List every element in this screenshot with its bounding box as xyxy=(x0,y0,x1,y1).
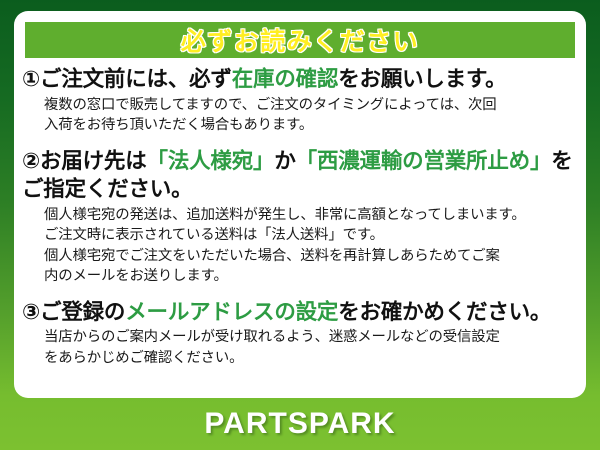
notice-item-1-body: 複数の窓口で販売してますので、ご注文のタイミングによっては、次回 入荷をお待ち頂… xyxy=(44,95,578,136)
notice-item-2-body-line-1: 個人様宅宛の発送は、追加送料が発生し、非常に高額となってしまいます。 xyxy=(44,205,578,225)
notice-item-1-number: ① xyxy=(22,67,40,91)
footer-brand-bar: PARTSPARK xyxy=(0,398,600,450)
notice-item-3-head-part-2: をお確かめください。 xyxy=(338,300,551,324)
notice-item-2-head-part-0: お届け先は xyxy=(40,149,147,173)
notice-item-2-body-line-3: 個人様宅宛でご注文をいただいた場合、送料を再計算しあらためてご案 xyxy=(44,246,578,266)
notice-item-2-heading: ②お届け先は「法人様宛」か「西濃運輸の営業所止め」をご指定ください。 xyxy=(22,148,578,204)
notice-item-3-body-line-1: 当店からのご案内メールが受け取れるよう、迷惑メールなどの受信設定 xyxy=(44,327,578,347)
notice-item-2-body-line-4: 内のメールをお送りします。 xyxy=(44,266,578,286)
notice-item-3: ③ご登録のメールアドレスの設定をお確かめください。 当店からのご案内メールが受け… xyxy=(22,299,578,369)
notice-item-2-number: ② xyxy=(22,149,40,173)
brand-logo-text: PARTSPARK xyxy=(204,407,395,441)
notice-item-1-head-part-0: ご注文前には、必ず xyxy=(40,67,232,91)
notice-item-3-body: 当店からのご案内メールが受け取れるよう、迷惑メールなどの受信設定 をあらかじめご… xyxy=(44,327,578,368)
notice-banner: 必ずお読みください ①ご注文前には、必ず在庫の確認をお願いします。 複数の窓口で… xyxy=(0,0,600,450)
notice-item-2-head-highlight-1: 「法人様宛」 xyxy=(147,149,275,173)
notice-item-1-body-line-2: 入荷をお待ち頂いただく場合もあります。 xyxy=(44,115,578,135)
notice-item-1-heading: ①ご注文前には、必ず在庫の確認をお願いします。 xyxy=(22,66,578,94)
page-title: 必ずお読みください xyxy=(181,22,420,58)
notice-items-list: ①ご注文前には、必ず在庫の確認をお願いします。 複数の窓口で販売してますので、ご… xyxy=(14,66,586,370)
notice-item-3-head-highlight: メールアドレスの設定 xyxy=(125,300,338,324)
notice-item-3-body-line-2: をあらかじめご確認ください。 xyxy=(44,348,578,368)
notice-item-2-head-part-2: か xyxy=(274,149,295,173)
notice-item-1-head-highlight: 在庫の確認 xyxy=(232,67,339,91)
notice-title-bar: 必ずお読みください xyxy=(25,22,575,58)
notice-item-1: ①ご注文前には、必ず在庫の確認をお願いします。 複数の窓口で販売してますので、ご… xyxy=(22,66,578,136)
notice-item-1-head-part-2: をお願いします。 xyxy=(338,67,506,91)
notice-card: 必ずお読みください ①ご注文前には、必ず在庫の確認をお願いします。 複数の窓口で… xyxy=(14,11,586,398)
notice-item-2-head-highlight-2: 「西濃運輸の営業所止め」 xyxy=(296,149,552,173)
notice-item-2-body-line-2: ご注文時に表示されている送料は「法人送料」です。 xyxy=(44,225,578,245)
notice-item-3-head-part-0: ご登録の xyxy=(40,300,125,324)
notice-item-2-body: 個人様宅宛の発送は、追加送料が発生し、非常に高額となってしまいます。 ご注文時に… xyxy=(44,205,578,287)
notice-item-2: ②お届け先は「法人様宛」か「西濃運輸の営業所止め」をご指定ください。 個人様宅宛… xyxy=(22,148,578,287)
notice-item-3-number: ③ xyxy=(22,300,40,324)
notice-item-3-heading: ③ご登録のメールアドレスの設定をお確かめください。 xyxy=(22,299,578,327)
notice-item-1-body-line-1: 複数の窓口で販売してますので、ご注文のタイミングによっては、次回 xyxy=(44,95,578,115)
